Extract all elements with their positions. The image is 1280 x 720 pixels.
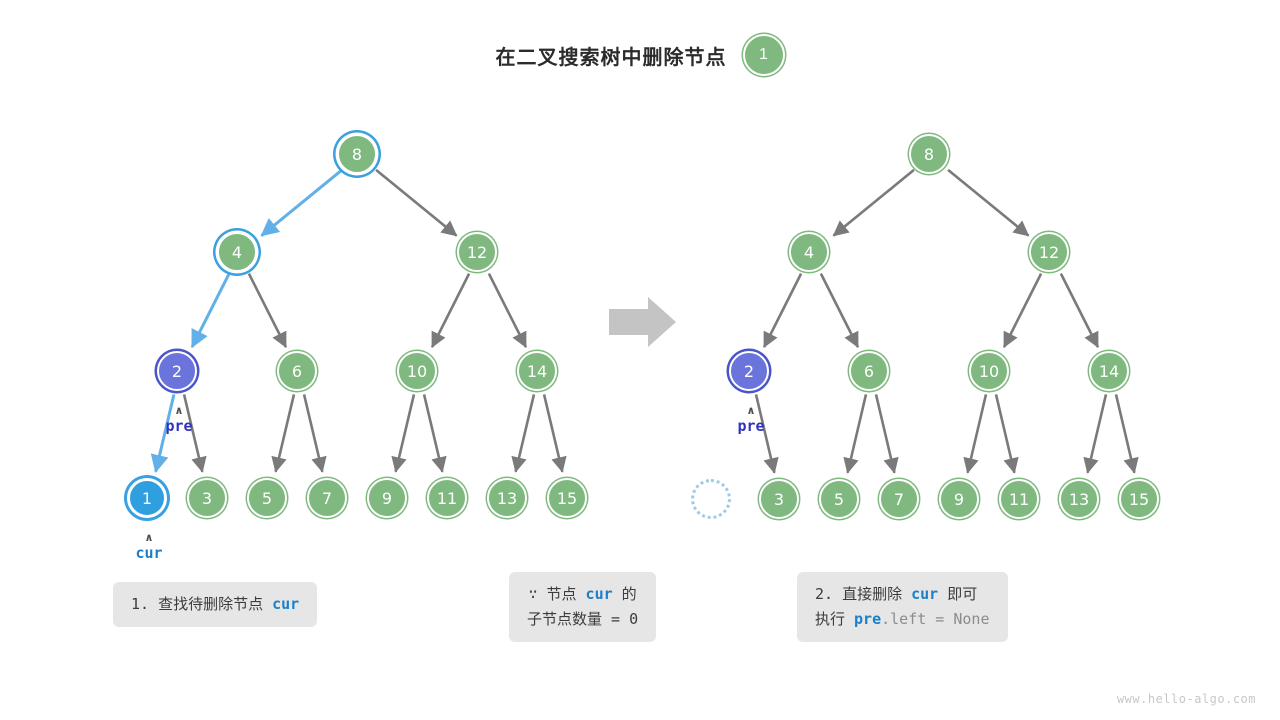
caption-span: 1. 查找待删除节点 <box>131 595 272 613</box>
tree-node-10: 10 <box>969 351 1009 391</box>
tree-edge <box>948 170 1028 236</box>
tree-node-15: 15 <box>1119 479 1159 519</box>
tree-node-6: 6 <box>849 351 889 391</box>
pointer-label-cur: ∧cur <box>123 532 175 561</box>
tree-node-13: 13 <box>1059 479 1099 519</box>
caption-line: ∵ 节点 cur 的 <box>527 582 638 607</box>
caption-line: 子节点数量 = 0 <box>527 607 638 632</box>
title-text: 在二叉搜索树中删除节点 <box>496 41 727 70</box>
tree-node-7: 7 <box>307 478 347 518</box>
step-arrow-icon <box>609 297 676 347</box>
tree-node-11: 11 <box>427 478 467 518</box>
diagram-canvas: 在二叉搜索树中删除节点 1 841226101413579111315 8412… <box>0 0 1280 720</box>
tree-edge <box>1088 394 1106 472</box>
caption-span: .left = None <box>881 610 989 628</box>
caret-icon: ∧ <box>747 405 756 416</box>
tree-node-8: 8 <box>337 134 377 174</box>
tree-node-10: 10 <box>397 351 437 391</box>
tree-node-3: 3 <box>187 478 227 518</box>
tree-node-1: 1 <box>127 478 167 518</box>
tree-node-4: 4 <box>789 232 829 272</box>
caption-line: 2. 直接删除 cur 即可 <box>815 582 990 607</box>
tree-edge <box>304 394 322 471</box>
tree-edge <box>833 170 913 236</box>
tree-edge <box>876 394 894 472</box>
tree-node-5: 5 <box>247 478 287 518</box>
tree-edge <box>516 394 534 471</box>
caption-span: 2. 直接删除 <box>815 585 911 603</box>
tree-edge <box>192 274 229 347</box>
caption-span: pre <box>854 610 881 628</box>
caption-span: 即可 <box>938 585 977 603</box>
pointer-text: cur <box>135 546 162 561</box>
caption-span: 子节点数量 = 0 <box>527 610 638 628</box>
caption-span: cur <box>911 585 938 603</box>
caption-step2: 2. 直接删除 cur 即可 执行 pre.left = None <box>797 572 1008 642</box>
tree-node-14: 14 <box>1089 351 1129 391</box>
tree-edge <box>261 170 341 236</box>
left-tree-edges <box>156 170 563 472</box>
tree-node-14: 14 <box>517 351 557 391</box>
pointer-label-pre: ∧pre <box>725 405 777 434</box>
caption-span: 的 <box>613 585 637 603</box>
tree-node-7: 7 <box>879 479 919 519</box>
tree-edge <box>396 394 414 471</box>
tree-edge <box>764 274 801 347</box>
caption-span: cur <box>272 595 299 613</box>
tree-node-9: 9 <box>939 479 979 519</box>
tree-edge <box>848 394 866 472</box>
tree-edge <box>1004 274 1041 347</box>
page-title: 在二叉搜索树中删除节点 1 <box>0 34 1280 76</box>
tree-node-2: 2 <box>729 351 769 391</box>
tree-node-15: 15 <box>547 478 587 518</box>
right-tree-edges <box>756 170 1134 473</box>
caption-line: 执行 pre.left = None <box>815 607 990 632</box>
watermark: www.hello-algo.com <box>1117 692 1256 706</box>
tree-edge <box>1061 274 1098 347</box>
tree-node-2: 2 <box>157 351 197 391</box>
tree-node-4: 4 <box>217 232 257 272</box>
tree-edge <box>249 274 286 347</box>
tree-edge <box>1116 394 1134 472</box>
tree-edge <box>544 394 562 471</box>
tree-node-12: 12 <box>457 232 497 272</box>
tree-edge <box>376 170 456 236</box>
tree-node-11: 11 <box>999 479 1039 519</box>
tree-edge <box>489 274 526 347</box>
caret-icon: ∧ <box>145 532 154 543</box>
tree-edge <box>968 394 986 472</box>
caret-icon: ∧ <box>175 405 184 416</box>
pointer-text: pre <box>737 419 764 434</box>
caption-span: ∵ 节点 <box>528 585 585 603</box>
tree-edge <box>432 274 469 347</box>
pointer-text: pre <box>165 419 192 434</box>
caption-step1: 1. 查找待删除节点 cur <box>113 582 317 627</box>
tree-edge <box>996 394 1014 472</box>
tree-node-13: 13 <box>487 478 527 518</box>
tree-edge <box>821 274 858 347</box>
deleted-node-placeholder <box>691 479 731 519</box>
tree-edge <box>276 394 294 471</box>
tree-node-12: 12 <box>1029 232 1069 272</box>
tree-node-8: 8 <box>909 134 949 174</box>
pointer-label-pre: ∧pre <box>153 405 205 434</box>
caption-line: 1. 查找待删除节点 cur <box>131 592 299 617</box>
caption-span: cur <box>586 585 613 603</box>
tree-node-3: 3 <box>759 479 799 519</box>
title-badge: 1 <box>743 34 785 76</box>
tree-node-5: 5 <box>819 479 859 519</box>
tree-node-9: 9 <box>367 478 407 518</box>
caption-reason: ∵ 节点 cur 的子节点数量 = 0 <box>509 572 656 642</box>
tree-node-6: 6 <box>277 351 317 391</box>
caption-span: 执行 <box>815 610 854 628</box>
tree-edge <box>424 394 442 471</box>
